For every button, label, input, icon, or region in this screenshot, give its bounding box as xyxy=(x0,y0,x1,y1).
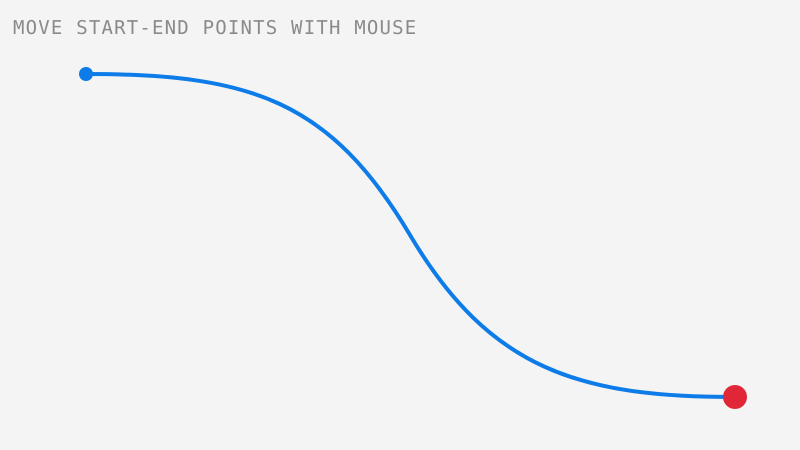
start-point-drag-handle[interactable] xyxy=(79,67,93,81)
bezier-curve-path xyxy=(86,74,735,397)
end-point-drag-handle[interactable] xyxy=(723,385,747,409)
curve-layer xyxy=(0,0,800,450)
drawing-canvas[interactable]: MOVE START-END POINTS WITH MOUSE xyxy=(0,0,800,450)
